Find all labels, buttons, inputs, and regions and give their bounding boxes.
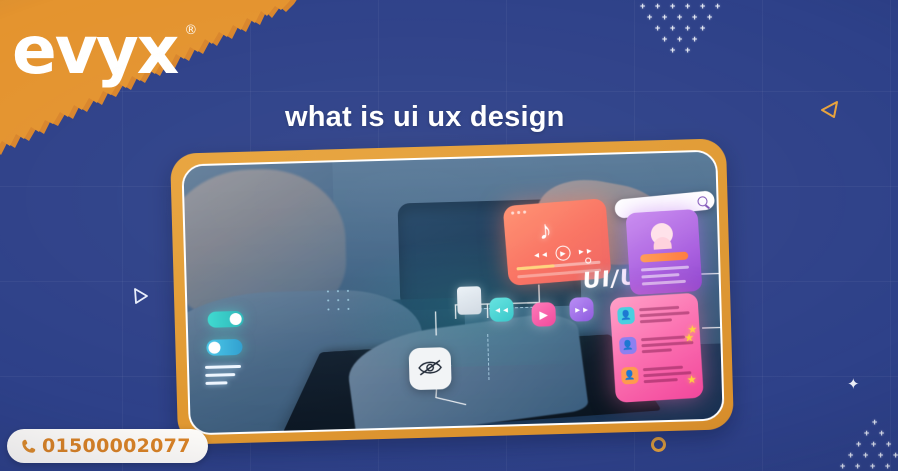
rewind-button[interactable]: ◄◄ <box>489 297 514 322</box>
brand-logo-text: evyx <box>12 12 177 89</box>
hamburger-lines[interactable] <box>205 365 242 390</box>
registered-mark-icon: ® <box>184 24 197 37</box>
play-icon-round: ▶ <box>539 308 548 321</box>
prev-track-icon[interactable]: ◄◄ <box>532 250 549 260</box>
phone-badge[interactable]: 01500002077 <box>7 429 208 463</box>
top-right-plus-cluster: ++ ++ ++ ++ ++ + ++ ++ ++ + ++ <box>640 2 750 48</box>
brand-logo: evyx ® <box>12 18 177 84</box>
progress-fill <box>517 264 555 270</box>
star-icon: ★ <box>687 325 701 337</box>
eye-icon <box>417 358 443 377</box>
page-title: what is ui ux design <box>285 101 565 134</box>
rewind-icon: ◄◄ <box>493 305 509 314</box>
bottom-right-plus-cluster: + ++ ++ + ++ ++ ++ ++ <box>838 418 898 471</box>
play-icon[interactable]: ▶ <box>555 245 571 261</box>
uiux-overlay-graphic: ♪ ◄◄ ▶ ►► ◄◄ <box>183 152 722 434</box>
play-button[interactable]: ▶ <box>531 302 556 327</box>
table-row[interactable]: 👤 ★ <box>621 361 696 392</box>
hero-image-card: ♪ ◄◄ ▶ ►► ◄◄ <box>170 138 734 444</box>
review-list-card[interactable]: 👤 👤 ★ 👤 <box>609 293 703 403</box>
table-row[interactable]: 👤 ★ <box>619 331 694 362</box>
toggle-switch-off[interactable] <box>206 339 242 356</box>
orange-triangle-marker-icon <box>818 100 840 125</box>
phone-handset-icon <box>20 438 37 455</box>
forward-icon: ►► <box>574 305 590 314</box>
hero-photo: ♪ ◄◄ ▶ ►► ◄◄ <box>183 152 722 434</box>
avatar: 👤 <box>621 367 639 385</box>
profile-cta-button[interactable] <box>640 252 688 263</box>
music-note-icon: ♪ <box>538 216 553 243</box>
eye-icon-card[interactable] <box>409 347 452 390</box>
banner-root: evyx ® what is ui ux design ++ ++ ++ ++ … <box>0 0 898 471</box>
search-icon <box>697 195 708 206</box>
card-dots-icon <box>511 210 526 214</box>
orange-ring-marker-icon <box>651 437 666 452</box>
star-icon: ★ <box>687 375 698 387</box>
next-track-icon[interactable]: ►► <box>577 246 594 256</box>
card-white-rim: ♪ ◄◄ ▶ ►► ◄◄ <box>181 150 724 436</box>
white-triangle-marker-icon <box>131 286 151 311</box>
avatar <box>650 222 673 245</box>
dot-grid-decor <box>327 289 388 321</box>
avatar: 👤 <box>617 307 635 325</box>
forward-button[interactable]: ►► <box>569 297 594 322</box>
white-sparkle-icon: ✦ <box>847 377 860 392</box>
avatar: 👤 <box>619 337 637 355</box>
phone-number: 01500002077 <box>42 435 191 457</box>
toggle-switch-on[interactable] <box>207 311 243 328</box>
profile-card[interactable] <box>625 209 702 295</box>
chip-card <box>457 286 482 315</box>
table-row[interactable]: 👤 <box>617 301 692 332</box>
